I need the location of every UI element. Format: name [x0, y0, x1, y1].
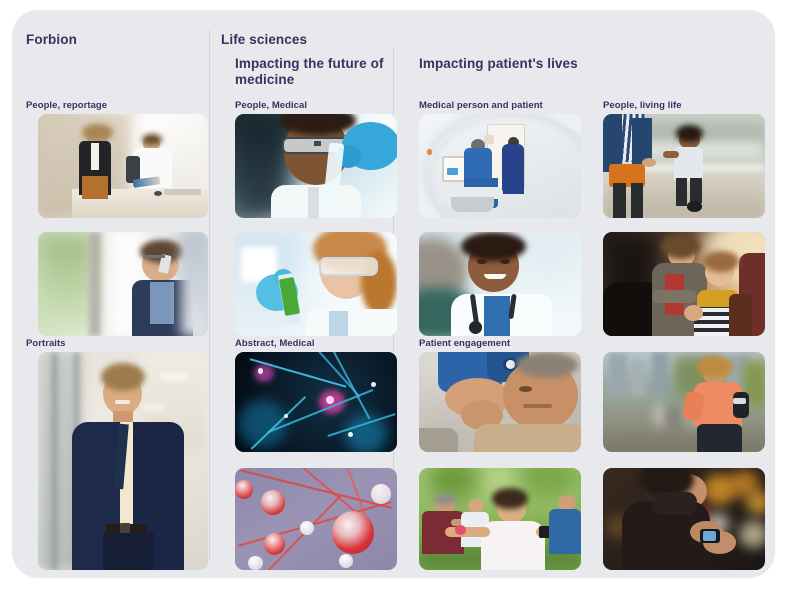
caption-people-living-life: People, living life — [603, 100, 682, 111]
tile-woman-jogging-in-park[interactable] — [603, 352, 765, 452]
section-title-impacting-future-of-medicine: Impacting the future of medicine — [235, 56, 395, 88]
tile-mother-buckling-child-in-car[interactable] — [603, 232, 765, 336]
caption-people-reportage: People, reportage — [26, 100, 107, 111]
tile-woman-checking-smartwatch-at-night[interactable] — [603, 468, 765, 570]
tile-parent-and-child-at-beach[interactable] — [603, 114, 765, 218]
group-title-life-sciences: Life sciences — [221, 32, 307, 47]
group-title-forbion: Forbion — [26, 32, 77, 47]
tile-physiotherapy-shoulder-elderly-man[interactable] — [419, 352, 581, 452]
screenshot-root: Forbion Life sciences Impacting the futu… — [0, 0, 792, 592]
tile-neuron-network-abstract[interactable] — [235, 352, 397, 452]
caption-portraits: Portraits — [26, 338, 66, 349]
section-title-impacting-patients-lives: Impacting patient's lives — [419, 56, 619, 72]
tile-two-colleagues-meeting-office[interactable] — [38, 114, 208, 218]
caption-medical-person-and-patient: Medical person and patient — [419, 100, 543, 111]
caption-people-medical: People, Medical — [235, 100, 307, 111]
tile-ct-scanner-nurse-and-patient[interactable] — [419, 114, 581, 218]
caption-patient-engagement: Patient engagement — [419, 338, 510, 349]
caption-abstract-medical: Abstract, Medical — [235, 338, 315, 349]
column-divider-1 — [209, 30, 210, 560]
moodboard-panel: Forbion Life sciences Impacting the futu… — [12, 10, 775, 578]
tile-man-on-phone-by-window[interactable] — [38, 232, 208, 336]
tile-smiling-doctor-with-patient[interactable] — [419, 232, 581, 336]
tile-researcher-green-sample-vial[interactable] — [235, 232, 397, 336]
tile-molecule-lattice-abstract[interactable] — [235, 468, 397, 570]
tile-outdoor-group-exercise-class[interactable] — [419, 468, 581, 570]
tile-scientist-with-test-tube-blue-glove[interactable] — [235, 114, 397, 218]
tile-businessman-portrait-navy-suit[interactable] — [38, 352, 208, 570]
